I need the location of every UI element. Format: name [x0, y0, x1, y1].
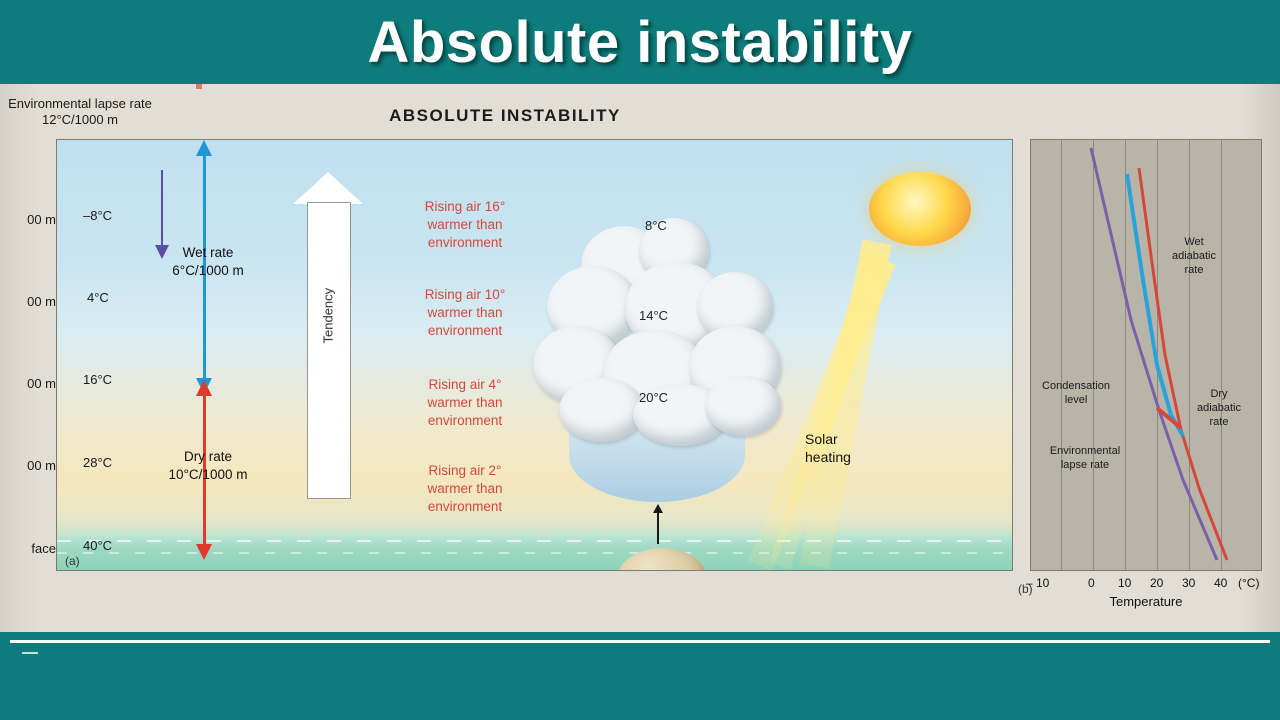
- wet-rate-arrow-head-up: [196, 140, 212, 156]
- wet-adiabatic-line-1: Wet: [1159, 236, 1229, 250]
- parcel-temp-3: 30°C: [639, 570, 668, 571]
- solar-heating-caption: Solar heating: [805, 430, 851, 466]
- altitude-tick-3: 00 m: [27, 458, 56, 473]
- wet-adiabatic-line-3: rate: [1159, 264, 1229, 278]
- parcel-temp-0: 8°C: [645, 218, 667, 233]
- footer-divider: [10, 640, 1270, 643]
- panel-b-axis-title: Temperature: [1026, 594, 1266, 609]
- rising-note-0-line-3: environment: [375, 234, 555, 252]
- page-title: Absolute instability: [0, 4, 1280, 80]
- env-lapse-b-line-2: lapse rate: [1031, 459, 1139, 473]
- altitude-tick-0: 00 m: [27, 212, 56, 227]
- parcel-temp-1: 14°C: [639, 308, 668, 323]
- env-temp-3: 28°C: [83, 455, 112, 470]
- b-tick-0: – 10: [1026, 576, 1049, 590]
- altitude-axis: 00 m 00 m 00 m 00 m face: [0, 139, 58, 569]
- rising-note-3-line-3: environment: [375, 498, 555, 516]
- altitude-tick-1: 00 m: [27, 294, 56, 309]
- solar-heating-line-1: Solar: [805, 430, 851, 448]
- elr-line-1: Environmental lapse rate: [0, 96, 180, 112]
- footer-dash: [22, 652, 38, 654]
- rising-note-3: Rising air 2° warmer than environment: [375, 462, 555, 517]
- rising-note-0-line-2: warmer than: [375, 216, 555, 234]
- dry-rate-arrow-head-down: [196, 544, 212, 560]
- rising-note-0: Rising air 16° warmer than environment: [375, 198, 555, 253]
- rising-note-2: Rising air 4° warmer than environment: [375, 376, 555, 431]
- elr-line-2: 12°C/1000 m: [0, 112, 180, 128]
- sun-icon: [869, 172, 971, 246]
- rising-note-1: Rising air 10° warmer than environment: [375, 286, 555, 341]
- wet-rate-caption: Wet rate 6°C/1000 m: [153, 244, 263, 279]
- panel-b-curves: [1031, 140, 1261, 570]
- env-temp-4: 40°C: [83, 538, 112, 553]
- dry-rate-line-2: 10°C/1000 m: [153, 466, 263, 484]
- solar-heating-line-2: heating: [805, 448, 851, 466]
- dry-adiabatic-line-3: rate: [1189, 416, 1249, 430]
- condensation-level-label: Condensation level: [1033, 380, 1119, 408]
- condensation-level-line-2: level: [1033, 394, 1119, 408]
- dry-adiabat-curve: [1139, 168, 1227, 560]
- altitude-tick-2: 00 m: [27, 376, 56, 391]
- panel-a: (a) –8°C 4°C 16°C 28°C 40°C Wet rate 6°C…: [56, 139, 1013, 571]
- b-tick-3: 20: [1150, 576, 1163, 590]
- decorative-spot: [196, 84, 202, 89]
- env-lapse-b-line-1: Environmental: [1031, 445, 1139, 459]
- environmental-lapse-rate-caption: Environmental lapse rate 12°C/1000 m: [0, 96, 180, 129]
- slide: Absolute instability ABSOLUTE INSTABILIT…: [0, 0, 1280, 720]
- tendency-label: Tendency: [321, 302, 336, 344]
- wet-adiabatic-line-2: adiabatic: [1159, 250, 1229, 264]
- b-tick-1: 0: [1088, 576, 1095, 590]
- b-tick-5: 40: [1214, 576, 1227, 590]
- b-tick-2: 10: [1118, 576, 1131, 590]
- environmental-lapse-rate-label: Environmental lapse rate: [1031, 445, 1139, 473]
- rising-note-1-line-1: Rising air 10°: [375, 286, 555, 304]
- wet-rate-line-2: 6°C/1000 m: [153, 262, 263, 280]
- dry-rate-line-1: Dry rate: [153, 448, 263, 466]
- ascent-arrow-upper: [657, 512, 659, 544]
- parcel-temp-2: 20°C: [639, 390, 668, 405]
- env-lapse-arrow: [161, 170, 163, 248]
- wet-rate-line-1: Wet rate: [153, 244, 263, 262]
- rising-note-3-line-2: warmer than: [375, 480, 555, 498]
- rising-note-0-line-1: Rising air 16°: [375, 198, 555, 216]
- condensation-level-line-1: Condensation: [1033, 380, 1119, 394]
- dry-rate-arrow-head-up: [196, 380, 212, 396]
- b-axis-unit: (°C): [1238, 576, 1259, 590]
- wet-adiabatic-rate-label: Wet adiabatic rate: [1159, 236, 1229, 277]
- panel-b: Wet adiabatic rate Dry adiabatic rate Co…: [1030, 139, 1262, 571]
- tendency-arrow-shaft: [307, 202, 351, 499]
- tendency-arrow-head: [293, 172, 363, 204]
- env-temp-2: 16°C: [83, 372, 112, 387]
- dry-adiabatic-rate-label: Dry adiabatic rate: [1189, 388, 1249, 429]
- panel-a-label: (a): [65, 554, 80, 568]
- dry-rate-caption: Dry rate 10°C/1000 m: [153, 448, 263, 483]
- figure-container: ABSOLUTE INSTABILITY 00 m 00 m 00 m 00 m…: [0, 84, 1280, 632]
- env-temp-0: –8°C: [83, 208, 112, 223]
- b-tick-4: 30: [1182, 576, 1195, 590]
- panel-b-axis-ticks: – 10 0 10 20 30 40 (°C): [1026, 576, 1266, 592]
- rising-note-2-line-3: environment: [375, 412, 555, 430]
- dry-adiabatic-line-1: Dry: [1189, 388, 1249, 402]
- rising-note-2-line-2: warmer than: [375, 394, 555, 412]
- rising-note-1-line-3: environment: [375, 322, 555, 340]
- env-temp-1: 4°C: [87, 290, 109, 305]
- cloud-puff: [559, 378, 645, 442]
- rising-note-1-line-2: warmer than: [375, 304, 555, 322]
- rising-note-2-line-1: Rising air 4°: [375, 376, 555, 394]
- dry-adiabatic-line-2: adiabatic: [1189, 402, 1249, 416]
- cloud-puff: [705, 376, 781, 436]
- cumulus-cloud: [529, 218, 799, 468]
- altitude-tick-4: face: [31, 541, 56, 556]
- rising-note-3-line-1: Rising air 2°: [375, 462, 555, 480]
